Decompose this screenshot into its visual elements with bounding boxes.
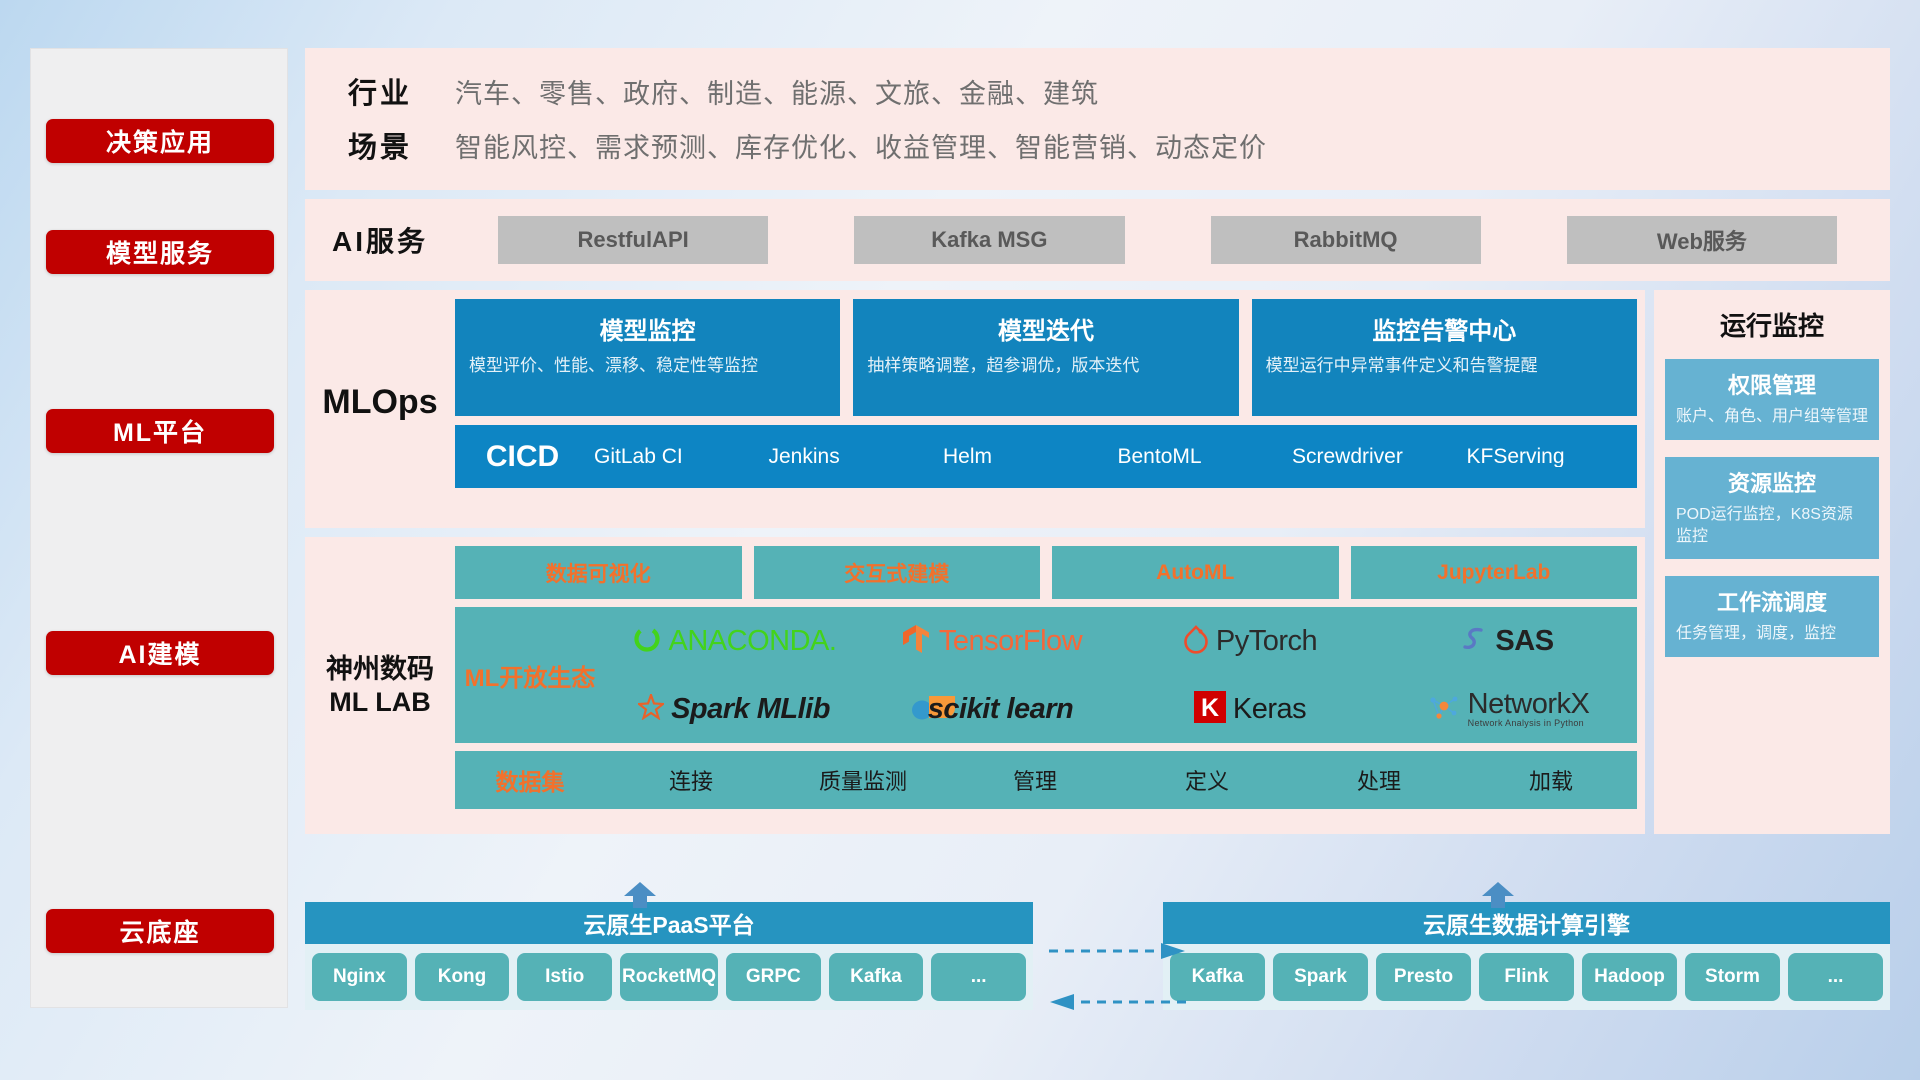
runtime-monitor-panel: 运行监控 权限管理 账户、角色、用户组等管理 资源监控 POD运行监控，K8S资… <box>1654 290 1890 834</box>
tool-data-visualization[interactable]: 数据可视化 <box>455 546 742 599</box>
cicd-item-jenkins[interactable]: Jenkins <box>765 446 940 467</box>
dataset-item-quality-check[interactable]: 质量监测 <box>777 764 949 796</box>
cicd-item-kfserving[interactable]: KFServing <box>1463 446 1638 467</box>
logo-pytorch: PyTorch <box>1121 624 1379 659</box>
rail-item-ml-platform[interactable]: ML平台 <box>46 409 274 453</box>
networkx-wordmark: NetworkX <box>1468 690 1590 719</box>
card-title: 资源监控 <box>1676 466 1868 498</box>
card-title: 工作流调度 <box>1676 585 1868 617</box>
engine-chip-flink[interactable]: Flink <box>1479 953 1574 1001</box>
arrow-left-icon <box>1050 994 1074 1010</box>
spark-icon <box>638 694 664 725</box>
dataset-item-load[interactable]: 加载 <box>1465 764 1637 796</box>
sas-icon <box>1462 625 1488 658</box>
industry-values: 汽车、零售、政府、制造、能源、文旅、金融、建筑 <box>455 72 1099 111</box>
ml-lab-label-line2: ML LAB <box>305 686 455 719</box>
paas-chip-grpc[interactable]: GRPC <box>726 953 821 1001</box>
arrow-right-icon <box>1161 943 1185 959</box>
cicd-label: CICD <box>455 440 590 474</box>
scikit-learn-wordmark: scikit learn <box>928 693 1074 726</box>
dataset-item-connect[interactable]: 连接 <box>605 764 777 796</box>
ml-lab-label-line1: 神州数码 <box>305 653 455 686</box>
runtime-monitor-title: 运行监控 <box>1665 306 1879 343</box>
ml-lab-tool-list: 数据可视化 交互式建模 AutoML JupyterLab <box>455 546 1637 599</box>
engine-up-arrow-icon <box>1481 882 1515 908</box>
paas-block: 云原生PaaS平台 Nginx Kong Istio RocketMQ GRPC… <box>305 902 1033 1010</box>
networkx-icon <box>1427 692 1461 727</box>
rail-item-label: AI建模 <box>118 635 201 671</box>
scenario-row: 场景 智能风控、需求预测、库存优化、收益管理、智能营销、动态定价 <box>305 118 1890 172</box>
engine-chip-hadoop[interactable]: Hadoop <box>1582 953 1677 1001</box>
logo-tensorflow: TensorFlow <box>863 623 1121 660</box>
engine-chip-storm[interactable]: Storm <box>1685 953 1780 1001</box>
ml-ecosystem-logos: ANACONDA. TensorFlow <box>605 607 1637 743</box>
mlops-label: MLOps <box>305 299 455 422</box>
bidirectional-link <box>1045 938 1190 1016</box>
cicd-item-bentoml[interactable]: BentoML <box>1114 446 1289 467</box>
paas-chip-kong[interactable]: Kong <box>415 953 510 1001</box>
logo-sas: sas <box>1379 625 1637 658</box>
sas-wordmark: sas <box>1495 625 1553 658</box>
mlops-card-model-iteration[interactable]: 模型迭代 抽样策略调整，超参调优，版本迭代 <box>853 299 1238 416</box>
tool-automl[interactable]: AutoML <box>1052 546 1339 599</box>
engine-chip-spark[interactable]: Spark <box>1273 953 1368 1001</box>
cicd-item-helm[interactable]: Helm <box>939 446 1114 467</box>
dataset-item-define[interactable]: 定义 <box>1121 764 1293 796</box>
main-content: 行业 汽车、零售、政府、制造、能源、文旅、金融、建筑 场景 智能风控、需求预测、… <box>305 48 1890 834</box>
scenario-values: 智能风控、需求预测、库存优化、收益管理、智能营销、动态定价 <box>455 126 1267 165</box>
spark-mllib-wordmark: Spark MLlib <box>671 693 830 726</box>
dataset-item-list: 连接 质量监测 管理 定义 处理 加载 <box>605 764 1637 796</box>
pytorch-icon <box>1183 624 1209 659</box>
paas-chip-kafka[interactable]: Kafka <box>829 953 924 1001</box>
ecosystem-logo-row-1: ANACONDA. TensorFlow <box>605 607 1637 675</box>
engine-chip-more[interactable]: ... <box>1788 953 1883 1001</box>
keras-icon: K <box>1194 691 1226 728</box>
keras-wordmark: Keras <box>1233 693 1306 726</box>
mlops-band: MLOps 模型监控 模型评价、性能、漂移、稳定性等监控 模型迭代 抽样策略调整… <box>305 290 1645 528</box>
card-subtitle: 任务管理，调度，监控 <box>1676 623 1868 645</box>
industry-row: 行业 汽车、零售、政府、制造、能源、文旅、金融、建筑 <box>305 64 1890 118</box>
dataset-item-process[interactable]: 处理 <box>1293 764 1465 796</box>
ml-lab-band: 神州数码 ML LAB 数据可视化 交互式建模 AutoML JupyterLa… <box>305 537 1645 834</box>
card-subtitle: POD运行监控，K8S资源监控 <box>1676 504 1868 548</box>
mlops-card-model-monitor[interactable]: 模型监控 模型评价、性能、漂移、稳定性等监控 <box>455 299 840 416</box>
card-subtitle: 模型评价、性能、漂移、稳定性等监控 <box>469 355 826 378</box>
tool-jupyterlab[interactable]: JupyterLab <box>1351 546 1638 599</box>
mlops-card-alert-center[interactable]: 监控告警中心 模型运行中异常事件定义和告警提醒 <box>1252 299 1637 416</box>
dataset-item-manage[interactable]: 管理 <box>949 764 1121 796</box>
rail-item-ai-modeling[interactable]: AI建模 <box>46 631 274 675</box>
ai-service-chip-kafka-msg[interactable]: Kafka MSG <box>854 216 1124 264</box>
rail-item-label: 决策应用 <box>106 123 214 159</box>
industry-label: 行业 <box>305 70 455 112</box>
logo-networkx: NetworkX Network Analysis in Python <box>1379 690 1637 728</box>
card-subtitle: 抽样策略调整，超参调优，版本迭代 <box>867 355 1224 378</box>
mlops-content: 模型监控 模型评价、性能、漂移、稳定性等监控 模型迭代 抽样策略调整，超参调优，… <box>455 299 1645 488</box>
paas-chip-istio[interactable]: Istio <box>517 953 612 1001</box>
logo-scikit-learn: scikit learn <box>863 692 1121 727</box>
ai-service-band: AI服务 RestfulAPI Kafka MSG RabbitMQ Web服务 <box>305 199 1890 281</box>
tensorflow-wordmark: TensorFlow <box>939 625 1082 658</box>
dataset-label: 数据集 <box>455 763 605 797</box>
dataset-row: 数据集 连接 质量监测 管理 定义 处理 加载 <box>455 751 1637 809</box>
ecosystem-logo-row-2: Spark MLlib scikit lea <box>605 675 1637 743</box>
tensorflow-icon <box>902 623 932 660</box>
rail-item-label: 模型服务 <box>106 234 214 270</box>
anaconda-wordmark: ANACONDA. <box>669 625 837 658</box>
card-title: 权限管理 <box>1676 368 1868 400</box>
card-subtitle: 账户、角色、用户组等管理 <box>1676 406 1868 428</box>
cicd-item-list: GitLab CI Jenkins Helm BentoML Screwdriv… <box>590 446 1637 467</box>
ai-service-chip-rabbitmq[interactable]: RabbitMQ <box>1211 216 1481 264</box>
anaconda-icon <box>632 624 662 659</box>
paas-chip-more[interactable]: ... <box>931 953 1026 1001</box>
cicd-item-screwdriver[interactable]: Screwdriver <box>1288 446 1463 467</box>
cicd-item-gitlab-ci[interactable]: GitLab CI <box>590 446 765 467</box>
ai-service-chips: RestfulAPI Kafka MSG RabbitMQ Web服务 <box>455 216 1890 264</box>
paas-chip-rocketmq[interactable]: RocketMQ <box>620 953 718 1001</box>
cicd-row: CICD GitLab CI Jenkins Helm BentoML Scre… <box>455 425 1637 488</box>
rail-item-label: ML平台 <box>113 413 207 449</box>
monitor-card-permission[interactable]: 权限管理 账户、角色、用户组等管理 <box>1665 359 1879 440</box>
rail-item-cloud-base[interactable]: 云底座 <box>46 909 274 953</box>
rail-item-label: 云底座 <box>119 913 200 949</box>
rail-item-model-service[interactable]: 模型服务 <box>46 230 274 274</box>
ai-service-label: AI服务 <box>305 220 455 260</box>
left-rail: 决策应用 模型服务 ML平台 AI建模 云底座 <box>30 48 288 1008</box>
paas-title: 云原生PaaS平台 <box>305 902 1033 944</box>
ai-service-chip-web[interactable]: Web服务 <box>1567 216 1837 264</box>
engine-chip-presto[interactable]: Presto <box>1376 953 1471 1001</box>
monitor-card-resource[interactable]: 资源监控 POD运行监控，K8S资源监控 <box>1665 457 1879 560</box>
tool-interactive-modeling[interactable]: 交互式建模 <box>754 546 1041 599</box>
engine-chip-list: Kafka Spark Presto Flink Hadoop Storm ..… <box>1163 944 1890 1010</box>
data-engine-block: 云原生数据计算引擎 Kafka Spark Presto Flink Hadoo… <box>1163 902 1890 1010</box>
paas-chip-nginx[interactable]: Nginx <box>312 953 407 1001</box>
scenario-label: 场景 <box>305 124 455 166</box>
ai-service-chip-restfulapi[interactable]: RestfulAPI <box>498 216 768 264</box>
platform-column: MLOps 模型监控 模型评价、性能、漂移、稳定性等监控 模型迭代 抽样策略调整… <box>305 290 1645 834</box>
card-title: 模型监控 <box>469 311 826 346</box>
ml-ecosystem-label: ML开放生态 <box>455 658 605 693</box>
logo-keras: K Keras <box>1121 691 1379 728</box>
paas-up-arrow-icon <box>623 882 657 908</box>
card-title: 模型迭代 <box>867 311 1224 346</box>
networkx-tagline: Network Analysis in Python <box>1468 719 1590 728</box>
engine-title: 云原生数据计算引擎 <box>1163 902 1890 944</box>
middle-region: MLOps 模型监控 模型评价、性能、漂移、稳定性等监控 模型迭代 抽样策略调整… <box>305 290 1890 834</box>
logo-spark-mllib: Spark MLlib <box>605 693 863 726</box>
card-subtitle: 模型运行中异常事件定义和告警提醒 <box>1266 355 1623 378</box>
pytorch-wordmark: PyTorch <box>1216 625 1317 658</box>
monitor-card-workflow[interactable]: 工作流调度 任务管理，调度，监控 <box>1665 576 1879 657</box>
card-title: 监控告警中心 <box>1266 311 1623 346</box>
svg-text:K: K <box>1201 694 1219 722</box>
mlops-card-list: 模型监控 模型评价、性能、漂移、稳定性等监控 模型迭代 抽样策略调整，超参调优，… <box>455 299 1637 416</box>
rail-item-decision-app[interactable]: 决策应用 <box>46 119 274 163</box>
decision-app-band: 行业 汽车、零售、政府、制造、能源、文旅、金融、建筑 场景 智能风控、需求预测、… <box>305 48 1890 190</box>
ml-lab-label: 神州数码 ML LAB <box>305 546 455 719</box>
ml-lab-content: 数据可视化 交互式建模 AutoML JupyterLab ML开放生态 <box>455 546 1645 809</box>
logo-anaconda: ANACONDA. <box>605 624 863 659</box>
ml-ecosystem-row: ML开放生态 ANACONDA. <box>455 607 1637 743</box>
paas-chip-list: Nginx Kong Istio RocketMQ GRPC Kafka ... <box>305 944 1033 1010</box>
